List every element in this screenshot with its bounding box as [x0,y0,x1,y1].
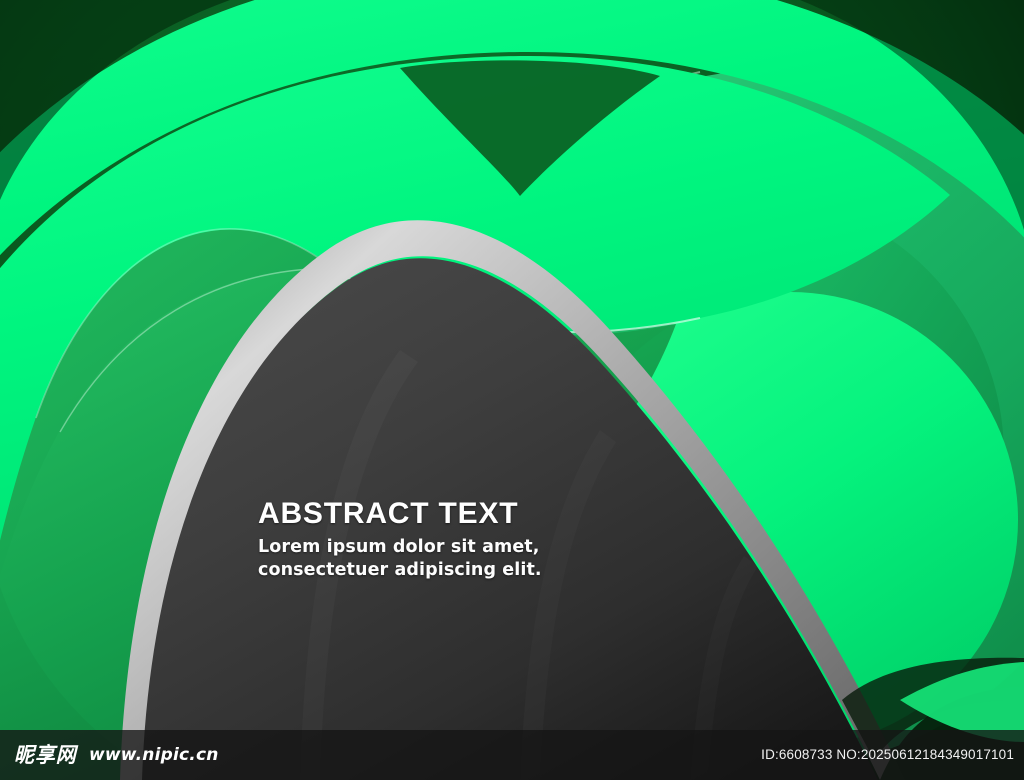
watermark-bar: 昵享网 www.nipic.cn ID:6608733 NO:202506121… [0,730,1024,780]
nipic-logo-icon: 昵享网 [14,744,77,767]
nipic-url-label[interactable]: www.nipic.cn [89,746,219,765]
image-id-label: ID:6608733 NO:20250612184349017101 [761,747,1024,763]
watermark-brand[interactable]: 昵享网 www.nipic.cn [0,744,219,767]
image-canvas: ABSTRACT TEXT Lorem ipsum dolor sit amet… [0,0,1024,780]
abstract-artwork [0,0,1024,780]
